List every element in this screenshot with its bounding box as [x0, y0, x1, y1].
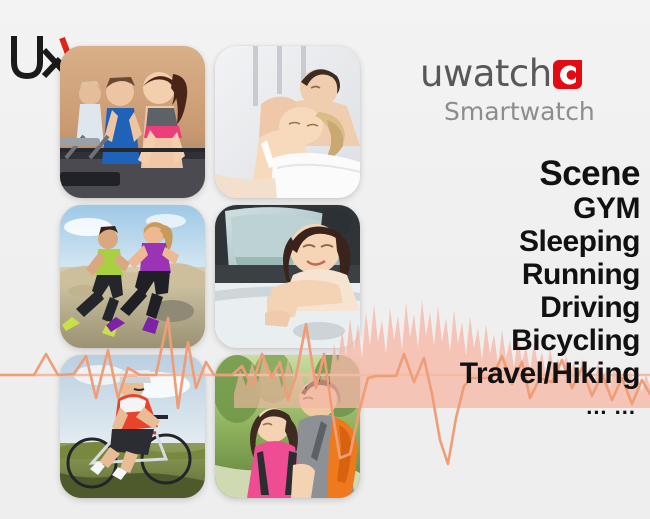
photo-card-gym[interactable] [60, 46, 205, 198]
scene-item-gym: GYM [310, 192, 640, 225]
uwatch-c-mark-icon [553, 60, 582, 89]
scene-item-travel-hiking: Travel/Hiking [310, 357, 640, 390]
uwatch-wordmark: uwatch [420, 55, 552, 92]
scene-item-sleeping: Sleeping [310, 225, 640, 258]
photo-card-running[interactable] [60, 205, 205, 348]
photo-card-bicycling[interactable] [60, 355, 205, 498]
scene-item-driving: Driving [310, 291, 640, 324]
slide-canvas: uwatch Smartwatch Scene GYM Sleeping Run… [0, 0, 650, 519]
scene-item-running: Running [310, 258, 640, 291]
running-photo-illustration [60, 205, 205, 348]
uwatch-brand-row: uwatch [420, 55, 630, 92]
uwatch-brand: uwatch Smartwatch [420, 55, 630, 124]
page-title: Scene [310, 156, 640, 192]
gym-photo-illustration [60, 46, 205, 198]
scene-list-ellipsis: ... ... [310, 394, 640, 420]
bicycling-photo-illustration [60, 355, 205, 498]
scene-list-panel: Scene GYM Sleeping Running Driving Bicyc… [310, 156, 640, 420]
uwatch-subtitle: Smartwatch [444, 99, 630, 124]
scene-item-bicycling: Bicycling [310, 324, 640, 357]
